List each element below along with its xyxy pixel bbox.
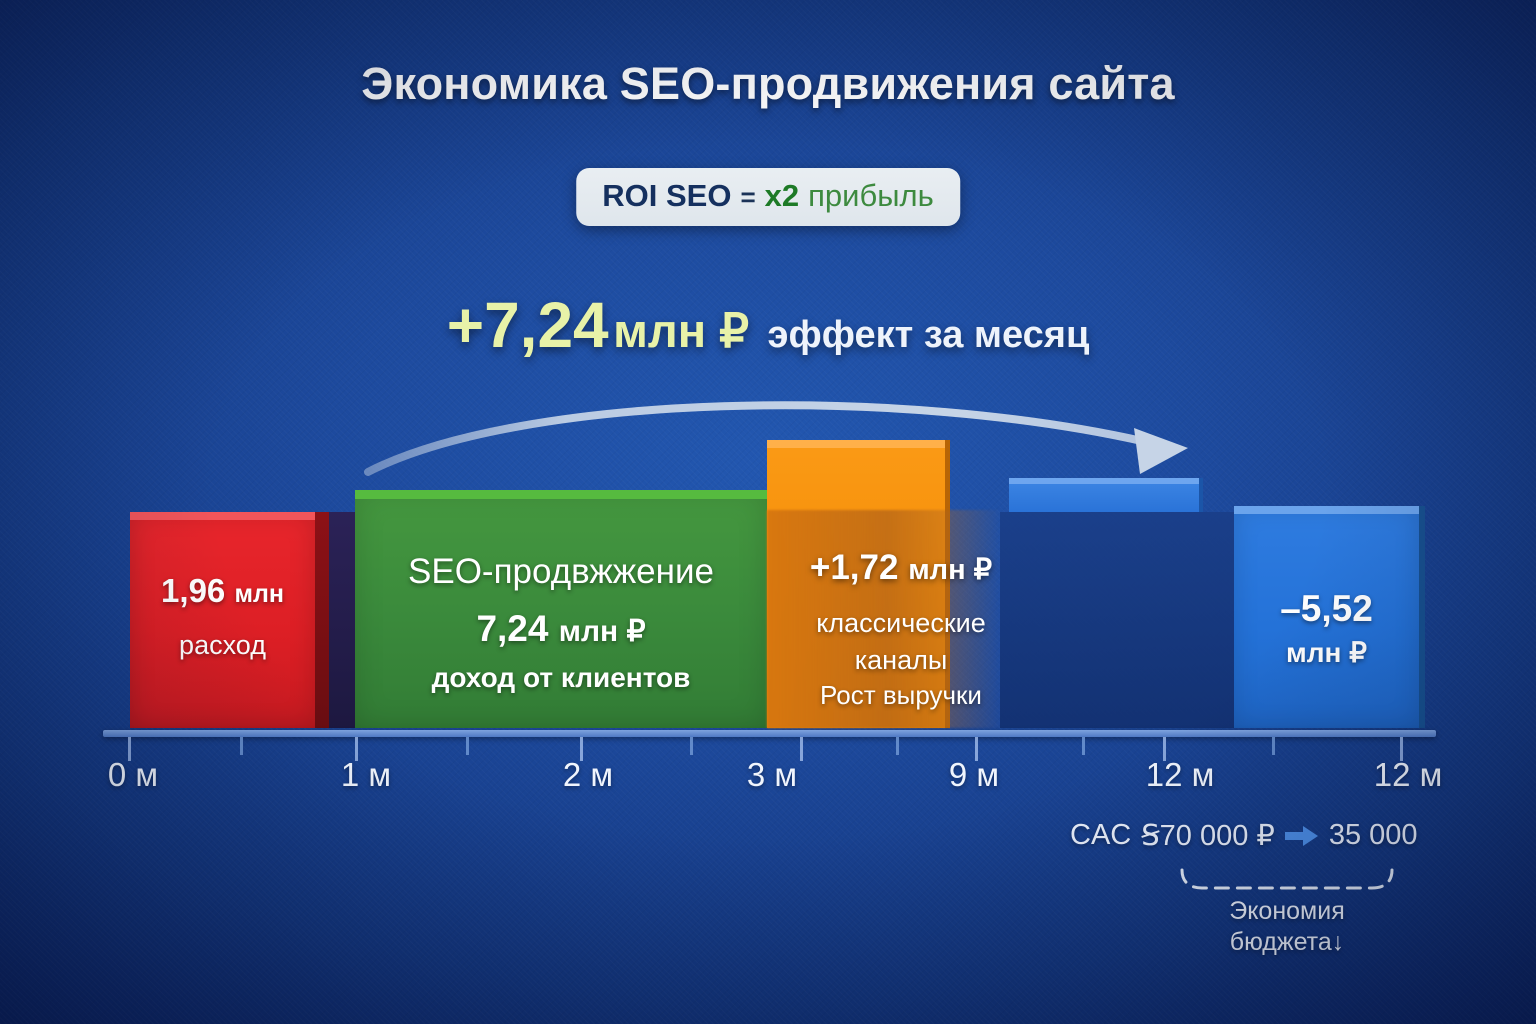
axis-tick: [466, 737, 469, 755]
axis-line: [103, 730, 1436, 737]
bar-expense: 1,96 млн расход: [130, 512, 315, 728]
axis-tick: [240, 737, 243, 755]
bar-seo-revenue-caption: доход от клиентов: [355, 662, 767, 694]
axis-label-6-text: 12 м: [1374, 756, 1443, 793]
bar-classic-channels-caption-3: Рост выручки: [767, 680, 1035, 711]
bar-expense-top-edge: [130, 512, 315, 520]
saving-bracket: [1178, 868, 1396, 898]
bar-small-blue-side-edge: [1199, 478, 1203, 512]
bar-seo-revenue-heading: SEO-продвжжение: [355, 552, 767, 592]
bar-classic-channels-caption-2: каналы: [767, 645, 1035, 676]
axis-label-3: 3 м: [747, 756, 797, 794]
axis-tick: [1272, 737, 1275, 755]
axis-label-0-text: 0 м: [108, 756, 158, 793]
bar-midground-block-face: [1000, 512, 1235, 728]
saving-note-line-1: Экономия: [1178, 896, 1396, 927]
bar-expense-caption: расход: [130, 630, 315, 661]
bar-classic-channels-value-number: +1,72: [810, 548, 899, 587]
bar-classic-channels-value-unit: млн ₽: [908, 554, 992, 586]
bar-expense-value-number: 1,96: [161, 572, 225, 609]
axis-tick: [800, 737, 803, 761]
bar-expense-side-edge: [315, 512, 329, 728]
axis-tick: [1082, 737, 1085, 755]
infographic-canvas: Экономика SEO-продвижения сайта ROI SEO …: [0, 0, 1536, 1024]
bar-expense-value: 1,96 млн: [130, 572, 315, 610]
axis-label-5-text: 12 м: [1146, 756, 1215, 793]
axis-label-2-text: 2 м: [563, 756, 613, 793]
axis-tick: [896, 737, 899, 755]
axis-label-6: 12 м: [1374, 756, 1443, 794]
arrow-right-icon: [1285, 825, 1319, 847]
axis-label-2: 2 м: [563, 756, 613, 794]
bar-expense-face: [130, 512, 315, 728]
bar-seo-revenue-value: 7,24 млн ₽: [355, 608, 767, 650]
bar-net-negative-unit: млн ₽: [1234, 636, 1419, 669]
axis-label-4: 9 м: [949, 756, 999, 794]
bar-net-negative: –5,52 млн ₽: [1234, 506, 1419, 728]
axis-tick: [690, 737, 693, 755]
bar-expense-value-unit: млн: [234, 580, 283, 608]
bar-classic-channels-top-edge: [767, 440, 945, 448]
axis-label-5: 12 м: [1146, 756, 1215, 794]
saving-note-line-2: бюджета↓: [1178, 927, 1396, 958]
bar-midground-block: [1000, 512, 1235, 728]
bar-net-negative-top-edge: [1234, 506, 1419, 514]
cac-before-value: Ꞩ70 000 ₽: [1141, 818, 1275, 853]
bar-seo-revenue-top-edge: [355, 490, 767, 499]
axis-label-4-text: 9 м: [949, 756, 999, 793]
axis-label-1: 1 м: [341, 756, 391, 794]
bar-net-negative-side-edge: [1419, 506, 1425, 728]
axis-label-1-text: 1 м: [341, 756, 391, 793]
bar-classic-channels-value: +1,72 млн ₽: [767, 548, 1035, 588]
bar-classic-channels-caption-1: классические: [767, 608, 1035, 639]
cac-annotation: CAC Ꞩ70 000 ₽ 35 000: [1070, 818, 1418, 853]
bar-net-negative-value: –5,52: [1234, 588, 1419, 630]
saving-note: Экономия бюджета↓: [1178, 896, 1396, 959]
axis-label-0: 0 м: [108, 756, 158, 794]
bar-seo-revenue: SEO-продвжжение 7,24 млн ₽ доход от клие…: [355, 490, 767, 728]
axis-label-3-text: 3 м: [747, 756, 797, 793]
cac-after-value: 35 000: [1329, 819, 1418, 852]
bar-seo-revenue-value-unit: млн ₽: [559, 615, 646, 648]
bar-small-blue: [1009, 478, 1199, 512]
bar-seo-revenue-value-number: 7,24: [476, 608, 548, 649]
cac-label: CAC: [1070, 819, 1131, 852]
bar-small-blue-top-edge: [1009, 478, 1199, 484]
